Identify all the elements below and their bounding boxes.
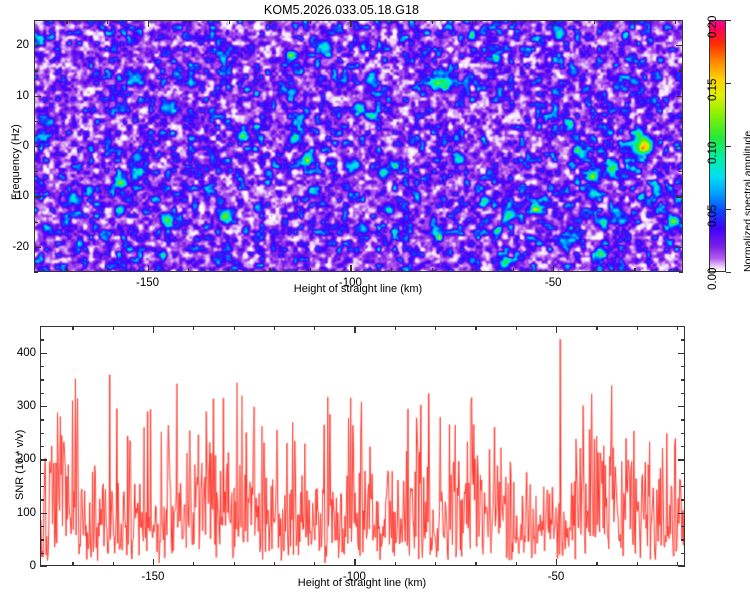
x-tick-label: -50 — [548, 571, 565, 583]
y-tick-label: 20 — [0, 39, 29, 51]
x-tick-minor-top — [395, 326, 396, 330]
snr-trace-plot — [41, 327, 684, 565]
y-tick-major-right — [676, 146, 683, 147]
y-tick-major — [40, 459, 47, 460]
x-tick-minor-top — [107, 20, 108, 24]
x-tick-minor — [594, 268, 595, 272]
x-tick-minor — [475, 562, 476, 566]
x-tick-minor — [113, 562, 114, 566]
x-tick-minor — [72, 562, 73, 566]
y-tick-minor — [40, 486, 44, 487]
colorbar-tick-label: 0.20 — [707, 16, 719, 38]
x-tick-minor-top — [188, 20, 189, 24]
y-tick-major — [40, 353, 47, 354]
y-tick-major-right — [678, 566, 685, 567]
y-tick-major — [40, 406, 47, 407]
y-tick-major-right — [676, 45, 683, 46]
x-tick-minor — [516, 562, 517, 566]
x-tick-minor-top — [113, 326, 114, 330]
x-tick-minor — [472, 268, 473, 272]
y-tick-minor-right — [681, 393, 685, 394]
y-tick-minor-right — [681, 339, 685, 340]
x-tick-minor-top — [677, 326, 678, 330]
y-tick-minor-right — [681, 499, 685, 500]
y-tick-label: 0 — [6, 560, 36, 572]
x-tick-minor — [107, 268, 108, 272]
y-tick-label: 400 — [6, 347, 36, 359]
y-tick-minor — [40, 553, 44, 554]
y-tick-minor-right — [681, 539, 685, 540]
colorbar-title: Normalized spectral amplitude — [742, 131, 750, 272]
x-tick-minor-top — [274, 326, 275, 330]
y-tick-minor — [40, 526, 44, 527]
y-tick-minor-right — [679, 20, 683, 21]
colorbar-tick — [726, 272, 731, 273]
y-tick-minor-right — [679, 70, 683, 71]
y-tick-minor — [34, 70, 38, 71]
x-tick-minor — [596, 562, 597, 566]
x-tick-major — [153, 559, 154, 566]
y-tick-major-right — [678, 459, 685, 460]
x-tick-minor-top — [513, 20, 514, 24]
y-tick-major-right — [676, 96, 683, 97]
y-tick-major-right — [676, 247, 683, 248]
y-tick-minor-right — [681, 366, 685, 367]
x-tick-minor-top — [314, 326, 315, 330]
x-tick-minor — [193, 562, 194, 566]
y-tick-major — [34, 146, 41, 147]
x-tick-minor — [229, 268, 230, 272]
x-tick-minor — [395, 562, 396, 566]
y-tick-minor — [40, 393, 44, 394]
y-tick-major-right — [678, 353, 685, 354]
x-tick-major — [350, 265, 351, 272]
y-tick-minor — [34, 121, 38, 122]
x-tick-label: -50 — [545, 277, 562, 289]
y-tick-major-right — [678, 406, 685, 407]
x-tick-minor — [435, 562, 436, 566]
y-tick-major — [34, 45, 41, 46]
x-tick-minor-top — [234, 326, 235, 330]
x-tick-minor-top — [432, 20, 433, 24]
y-tick-major — [40, 566, 47, 567]
x-tick-label: -150 — [141, 571, 164, 583]
colorbar-tick-label: 0.05 — [707, 205, 719, 227]
x-tick-major — [556, 559, 557, 566]
y-tick-minor — [40, 499, 44, 500]
y-tick-minor-right — [681, 379, 685, 380]
spectrogram-panel — [34, 20, 683, 272]
x-tick-major-top — [153, 326, 154, 333]
snr-y-axis-title: SNR (10 * v/v) — [14, 430, 26, 500]
y-tick-major-right — [678, 513, 685, 514]
y-tick-minor-right — [681, 473, 685, 474]
x-tick-minor — [269, 268, 270, 272]
x-tick-minor-top — [516, 326, 517, 330]
x-tick-minor-top — [596, 326, 597, 330]
spectrogram-y-axis-title: Frequency (Hz) — [10, 124, 22, 200]
x-tick-minor-top — [229, 20, 230, 24]
x-tick-minor — [675, 268, 676, 272]
x-tick-major-top — [553, 20, 554, 27]
colorbar-tick — [726, 83, 731, 84]
y-tick-minor-right — [681, 326, 685, 327]
y-tick-major — [34, 247, 41, 248]
x-tick-minor-top — [193, 326, 194, 330]
y-tick-minor-right — [679, 272, 683, 273]
y-tick-minor — [34, 171, 38, 172]
x-tick-minor-top — [675, 20, 676, 24]
y-tick-minor-right — [681, 486, 685, 487]
y-tick-minor-right — [681, 433, 685, 434]
x-tick-minor-top — [269, 20, 270, 24]
x-tick-label: -150 — [136, 277, 159, 289]
x-tick-minor — [513, 268, 514, 272]
y-tick-minor — [40, 366, 44, 367]
x-tick-minor — [314, 562, 315, 566]
figure-title: KOM5.2026.033.05.18.G18 — [0, 3, 683, 17]
x-tick-minor — [391, 268, 392, 272]
y-tick-minor — [34, 272, 38, 273]
x-tick-minor-top — [472, 20, 473, 24]
y-tick-major-right — [676, 196, 683, 197]
y-tick-major — [34, 96, 41, 97]
y-tick-minor — [40, 419, 44, 420]
y-tick-minor-right — [681, 526, 685, 527]
x-tick-minor-top — [594, 20, 595, 24]
x-tick-minor — [274, 562, 275, 566]
colorbar-tick-label: 0.10 — [707, 142, 719, 164]
x-tick-minor-top — [637, 326, 638, 330]
spectrogram-image — [35, 21, 682, 271]
y-tick-minor — [40, 446, 44, 447]
figure-root: KOM5.2026.033.05.18.G18 -150-100-50-20-1… — [0, 0, 750, 600]
y-tick-minor — [34, 20, 38, 21]
y-tick-minor-right — [681, 553, 685, 554]
y-tick-minor — [34, 222, 38, 223]
spectrogram-x-axis-title: Height of straight line (km) — [294, 283, 422, 295]
colorbar-tick — [726, 20, 731, 21]
colorbar-tick — [726, 209, 731, 210]
y-tick-minor — [40, 433, 44, 434]
x-tick-major-top — [148, 20, 149, 27]
y-tick-minor-right — [681, 419, 685, 420]
x-tick-minor-top — [634, 20, 635, 24]
x-tick-major-top — [556, 326, 557, 333]
x-tick-minor-top — [72, 326, 73, 330]
y-tick-major — [40, 513, 47, 514]
x-tick-minor — [66, 268, 67, 272]
y-tick-minor-right — [679, 171, 683, 172]
colorbar-tick — [726, 146, 731, 147]
x-tick-minor-top — [391, 20, 392, 24]
x-tick-minor-top — [310, 20, 311, 24]
y-tick-minor-right — [681, 446, 685, 447]
x-tick-major — [148, 265, 149, 272]
y-tick-minor — [40, 339, 44, 340]
x-tick-major — [354, 559, 355, 566]
x-tick-minor-top — [435, 326, 436, 330]
x-tick-minor — [310, 268, 311, 272]
y-tick-label: 10 — [0, 90, 29, 102]
y-tick-label: -20 — [0, 241, 29, 253]
y-tick-minor — [40, 473, 44, 474]
x-tick-minor — [432, 268, 433, 272]
snr-x-axis-title: Height of straight line (km) — [298, 577, 426, 589]
colorbar-tick-label: 0.15 — [707, 79, 719, 101]
x-tick-minor — [637, 562, 638, 566]
x-tick-minor-top — [66, 20, 67, 24]
y-tick-minor-right — [679, 121, 683, 122]
y-tick-minor-right — [679, 222, 683, 223]
snr-panel — [40, 326, 685, 566]
y-tick-minor — [40, 326, 44, 327]
x-tick-major-top — [350, 20, 351, 27]
colorbar-tick-label: 0.00 — [707, 268, 719, 290]
y-tick-major — [34, 196, 41, 197]
y-tick-label: 300 — [6, 400, 36, 412]
y-tick-label: 100 — [6, 507, 36, 519]
x-tick-minor — [234, 562, 235, 566]
y-tick-minor — [40, 539, 44, 540]
x-tick-minor — [634, 268, 635, 272]
x-tick-major-top — [354, 326, 355, 333]
y-tick-minor — [40, 379, 44, 380]
x-tick-minor-top — [475, 326, 476, 330]
x-tick-major — [553, 265, 554, 272]
x-tick-minor — [188, 268, 189, 272]
